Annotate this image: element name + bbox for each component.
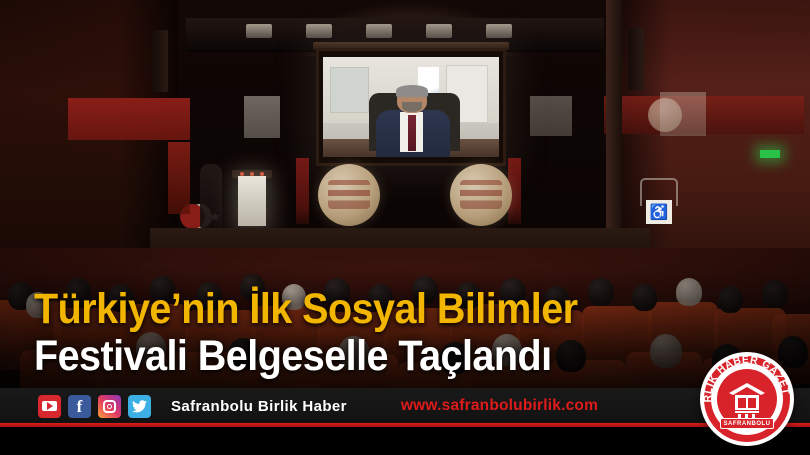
wheelchair-accessibility-icon: ♿ [646,200,672,224]
rig-light [306,24,332,38]
news-card: ★ ♿ [0,0,810,455]
twitter-icon[interactable] [128,395,151,418]
stage-event-logo [450,164,512,226]
headline-line-2: Festivali Belgeselle Taçlandı [34,333,647,380]
footer-black-strip [0,427,810,455]
footer-red-rule [0,423,810,427]
projected-video [323,57,499,157]
site-url[interactable]: www.safranbolubirlik.com [401,397,598,415]
headline-line-1: Türkiye’nin İlk Sosyal Bilimler [34,286,647,333]
instagram-icon[interactable] [98,395,121,418]
logo-sub-label: SAFRANBOLU [720,418,774,429]
rig-light [426,24,452,38]
wall-poster [660,92,706,136]
wall-poster [530,96,572,136]
video-speaker-tie [408,115,416,151]
video-speaker-hair [396,85,428,97]
wall-portrait [244,96,280,138]
rig-light [246,24,272,38]
lectern [238,176,266,226]
turkish-flag: ★ [68,98,190,140]
wall-column [606,0,622,262]
newspaper-logo-badge[interactable]: BİRLİK HABER GAZETESİ SAFRANBOLU [700,352,794,446]
ceiling-speaker [628,28,644,90]
vertical-banner [168,142,190,214]
video-speaker-beard [402,102,421,112]
stage-event-logo [318,164,380,226]
social-links: f [38,395,151,418]
video-wall-panel [330,67,369,113]
rig-light [366,24,392,38]
headline: Türkiye’nin İlk Sosyal Bilimler Festival… [0,286,700,380]
ceiling-speaker [152,30,168,92]
youtube-icon[interactable] [38,395,61,418]
rig-light [486,24,512,38]
projection-screen [316,48,506,166]
stage-person [200,164,222,228]
brand-name: Safranbolu Birlik Haber [171,398,347,415]
stage-flag [296,158,309,224]
exit-sign [760,150,780,158]
footer-bar: f Safranbolu Birlik Haber www.safranbolu… [0,388,810,424]
facebook-icon[interactable]: f [68,395,91,418]
house-icon [726,380,768,420]
